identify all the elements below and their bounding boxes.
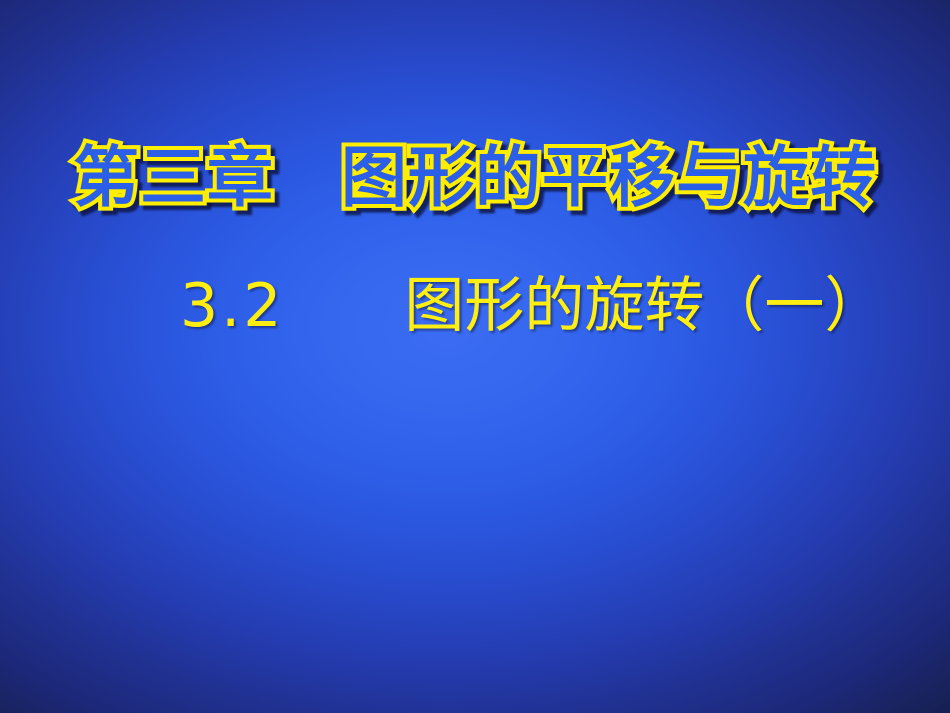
slide-canvas: 第三章 图形的平移与旋转 第三章 图形的平移与旋转 第三章 图形的平移与旋转 3… (0, 0, 950, 713)
subtitle-title-text: 图形的旋转（一） (404, 271, 884, 341)
title-fill-layer: 第三章 图形的平移与旋转 (73, 145, 877, 211)
subtitle-spacer (284, 271, 404, 341)
subtitle-section-number: 3.2 (180, 271, 284, 341)
title-layer-stack: 第三章 图形的平移与旋转 第三章 图形的平移与旋转 第三章 图形的平移与旋转 (73, 145, 877, 211)
slide-subtitle: 3.2 图形的旋转（一） (0, 266, 950, 346)
slide-title: 第三章 图形的平移与旋转 第三章 图形的平移与旋转 第三章 图形的平移与旋转 (0, 126, 950, 230)
slide-content-area (0, 360, 950, 713)
